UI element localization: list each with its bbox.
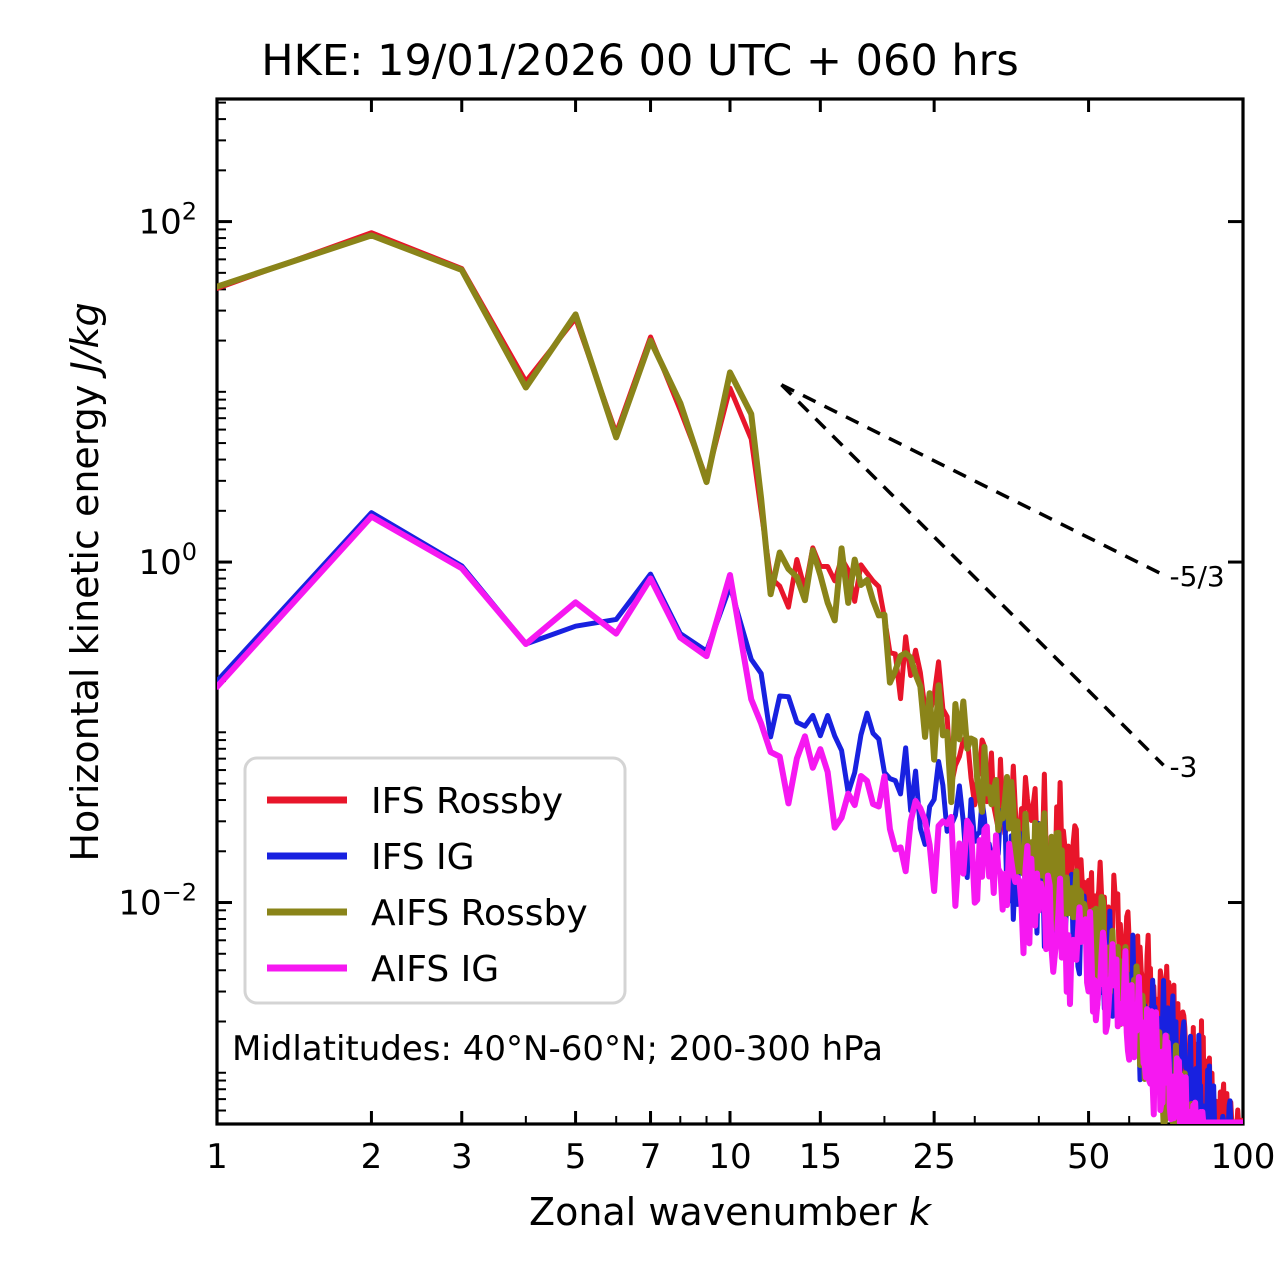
x-tick-label: 1: [206, 1137, 228, 1177]
reference-slope-label: -3: [1170, 750, 1198, 783]
x-tick-label: 25: [913, 1137, 956, 1177]
legend-item-label: AIFS IG: [371, 949, 499, 990]
x-tick-label: 2: [361, 1137, 383, 1177]
annotation-text: Midlatitudes: 40°N-60°N; 200-300 hPa: [232, 1029, 883, 1069]
x-tick-label: 50: [1067, 1137, 1110, 1177]
y-tick-label: 100: [138, 538, 197, 583]
x-tick-label: 100: [1211, 1137, 1276, 1177]
y-tick-label: 102: [138, 198, 197, 243]
y-tick-label: 10−2: [118, 879, 197, 924]
reference-slope-line: [781, 385, 1163, 575]
x-tick-label: 15: [799, 1137, 842, 1177]
chart-figure: HKE: 19/01/2026 00 UTC + 060 hrs Horizon…: [0, 0, 1280, 1288]
legend-item-label: IFS Rossby: [371, 781, 563, 822]
legend[interactable]: IFS RossbyIFS IGAIFS RossbyAIFS IG: [245, 758, 625, 1003]
x-tick-label: 5: [565, 1137, 587, 1177]
x-tick-label: 3: [451, 1137, 473, 1177]
reference-slope-label: -5/3: [1170, 560, 1225, 593]
legend-item-label: AIFS Rossby: [371, 893, 588, 934]
annotation-note: Midlatitudes: 40°N-60°N; 200-300 hPa: [232, 1029, 883, 1069]
x-tick-label: 7: [640, 1137, 662, 1177]
plot-canvas: 123571015255010010210010−2 -5/3-3 IFS Ro…: [0, 0, 1280, 1288]
legend-item-label: IFS IG: [371, 837, 475, 878]
x-tick-label: 10: [708, 1137, 751, 1177]
